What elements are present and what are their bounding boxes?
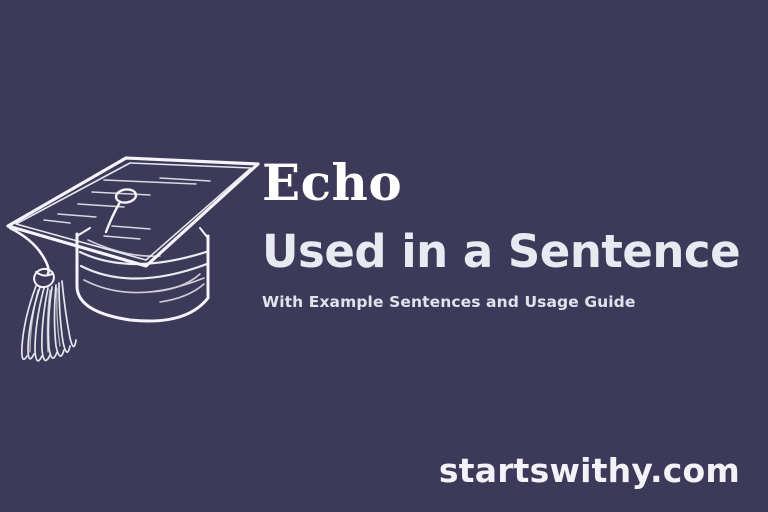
graduation-cap-icon [0, 140, 270, 370]
headline: Used in a Sentence [262, 228, 762, 275]
word-title: Echo [262, 158, 762, 208]
subtitle: With Example Sentences and Usage Guide [262, 293, 762, 312]
word-banner: Echo Used in a Sentence With Example Sen… [0, 0, 768, 512]
banner-text-block: Echo Used in a Sentence With Example Sen… [262, 158, 762, 312]
brand-domain: startswithy.com [439, 451, 740, 490]
